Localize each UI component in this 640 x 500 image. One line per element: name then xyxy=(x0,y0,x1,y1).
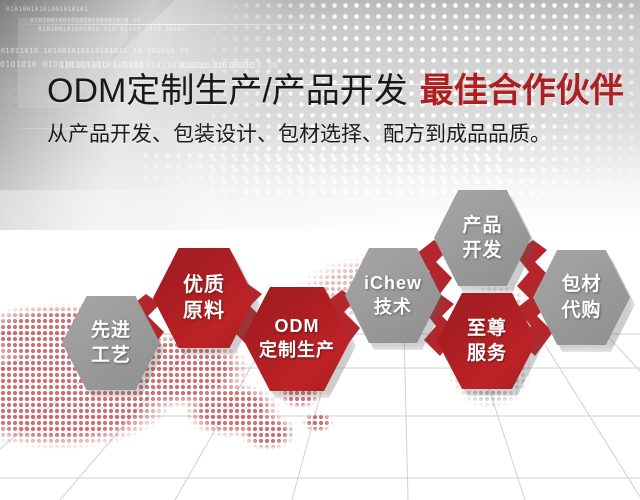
binary-code-text: 01010101010101 xyxy=(180,61,254,70)
hex-node-quality-material[interactable]: 优质 原料 xyxy=(153,248,255,348)
hex-node-odm-production[interactable]: ODM 定制生产 xyxy=(243,287,351,391)
title-main: ODM定制生产/产品开发 xyxy=(47,72,408,110)
hex-node-packaging-buy[interactable]: 包材 代购 xyxy=(533,250,630,345)
hex-node-supreme-service[interactable]: 至尊 服务 xyxy=(437,293,537,389)
hex-node-ichew-technology[interactable]: iChew 技术 xyxy=(345,248,441,343)
title-accent: 最佳合作伙伴 xyxy=(420,72,624,110)
banner-graphic: 01010010101001010101 0101001001010101001… xyxy=(0,0,640,500)
background-sheen xyxy=(0,0,640,230)
hex-node-product-develop[interactable]: 产品 开发 xyxy=(434,190,531,286)
binary-code-text: 101011010 101001010110101011 10 101010 1… xyxy=(0,47,189,55)
page-title: ODM定制生产/产品开发最佳合作伙伴 xyxy=(47,71,624,111)
hex-node-advanced-process[interactable]: 先进 工艺 xyxy=(62,296,160,390)
binary-code-text: 0101001001010101001010 0 10 xyxy=(30,17,141,24)
binary-code-text: 010100101001011 010 01010 1010 10101 xyxy=(38,26,186,33)
page-subtitle: 从产品开发、包装设计、包材选择、配方到成品品质。 xyxy=(47,120,551,150)
background-hairline xyxy=(10,24,340,25)
binary-code-text: 01010010101001010101 xyxy=(6,6,88,13)
